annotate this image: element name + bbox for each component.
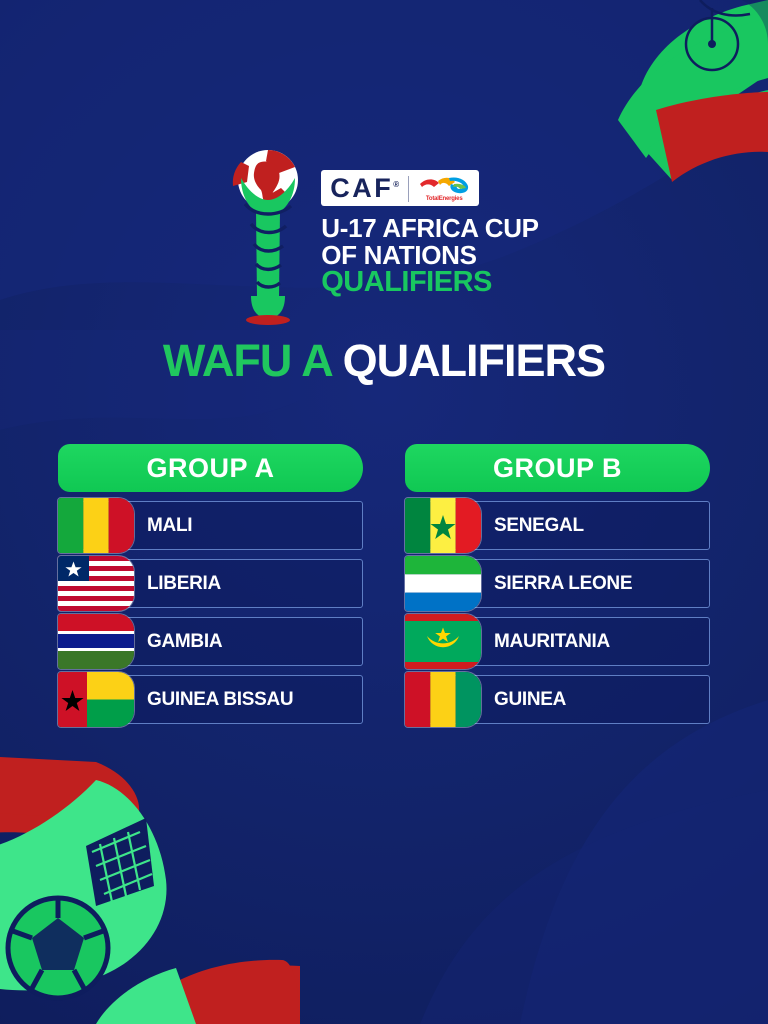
poster-canvas: CAF® TotalEnergies U-17 AFRICA CUP OF NA… <box>0 0 768 1024</box>
caf-partner-bar: CAF® TotalEnergies <box>321 170 479 206</box>
trophy-icon <box>229 148 307 326</box>
team-name: SIERRA LEONE <box>494 573 632 595</box>
guinea-bissau-flag-icon <box>58 672 134 727</box>
totalenergies-mark <box>418 175 470 195</box>
team-name: GUINEA BISSAU <box>147 689 293 711</box>
logo-line-1: U-17 AFRICA CUP <box>321 215 538 242</box>
group-b-header: GROUP B <box>405 444 710 492</box>
sierra-leone-flag-icon <box>405 556 481 611</box>
competition-logo-lockup: CAF® TotalEnergies U-17 AFRICA CUP OF NA… <box>0 148 768 326</box>
page-title-stage: QUALIFIERS <box>343 335 606 386</box>
team-name: GAMBIA <box>147 631 222 653</box>
table-row[interactable]: GAMBIA <box>58 617 363 666</box>
logo-divider <box>408 176 409 202</box>
group-b-panel: GROUP B SENEGAL <box>405 444 710 733</box>
table-row[interactable]: GUINEA BISSAU <box>58 675 363 724</box>
groups-container: GROUP A MALI <box>58 444 710 733</box>
group-a-header: GROUP A <box>58 444 363 492</box>
senegal-flag-icon <box>405 498 481 553</box>
table-row[interactable]: LIBERIA <box>58 559 363 608</box>
logo-text-column: CAF® TotalEnergies U-17 AFRICA CUP OF NA… <box>321 148 538 298</box>
guinea-flag-icon <box>405 672 481 727</box>
table-row[interactable]: GUINEA <box>405 675 710 724</box>
caf-wordmark-text: CAF <box>330 173 393 203</box>
logo-line-2: OF NATIONS <box>321 242 476 269</box>
registered-mark: ® <box>393 180 399 189</box>
page-title: WAFU A QUALIFIERS <box>0 338 768 383</box>
mauritania-flag-icon <box>405 614 481 669</box>
team-name: MALI <box>147 515 192 537</box>
page-title-region: WAFU A <box>163 335 331 386</box>
gambia-flag-icon <box>58 614 134 669</box>
caf-wordmark: CAF® <box>330 175 399 202</box>
totalenergies-wordmark: TotalEnergies <box>426 196 463 202</box>
mali-flag-icon <box>58 498 134 553</box>
team-name: MAURITANIA <box>494 631 610 653</box>
table-row[interactable]: MALI <box>58 501 363 550</box>
team-name: GUINEA <box>494 689 566 711</box>
group-a-panel: GROUP A MALI <box>58 444 363 733</box>
table-row[interactable]: SENEGAL <box>405 501 710 550</box>
liberia-flag-icon <box>58 556 134 611</box>
team-name: LIBERIA <box>147 573 221 595</box>
totalenergies-logo: TotalEnergies <box>418 175 470 202</box>
table-row[interactable]: SIERRA LEONE <box>405 559 710 608</box>
logo-line-3-qualifiers: QUALIFIERS <box>321 268 492 298</box>
team-name: SENEGAL <box>494 515 584 537</box>
table-row[interactable]: MAURITANIA <box>405 617 710 666</box>
